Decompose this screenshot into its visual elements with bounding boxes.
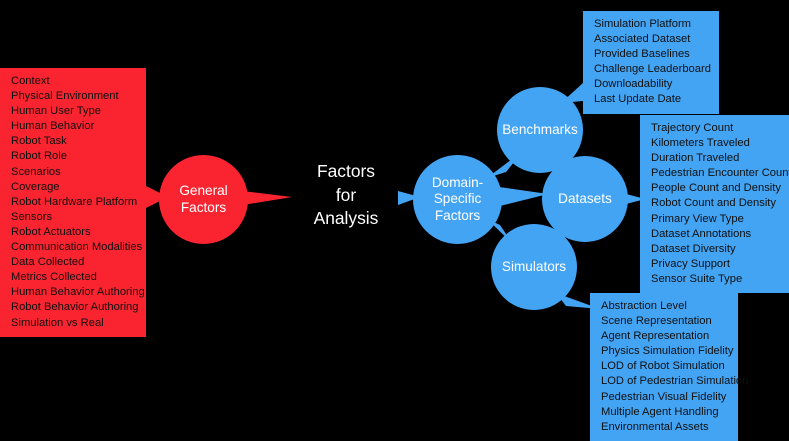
benchmarks-item-list: Simulation Platform Associated Dataset P… <box>583 11 719 114</box>
list-item: Challenge Leaderboard <box>594 62 710 77</box>
list-item: Data Collected <box>11 255 137 270</box>
node-domain-specific-factors-label: Domain- Specific Factors <box>432 175 483 225</box>
mindmap-canvas: Context Physical Environment Human User … <box>0 0 789 439</box>
list-item: Robot Task <box>11 134 137 149</box>
list-item: Multiple Agent Handling <box>601 405 729 420</box>
list-item: Metrics Collected <box>11 270 137 285</box>
list-item: Robot Count and Density <box>651 196 781 211</box>
list-item: Simulation vs Real <box>11 316 137 331</box>
list-item: Simulation Platform <box>594 17 710 32</box>
list-item: LOD of Pedestrian Simulation <box>601 374 729 389</box>
node-simulators[interactable]: Simulators <box>491 224 577 310</box>
list-item: Human Behavior Authoring <box>11 285 137 300</box>
node-label-line: Factors <box>432 208 483 225</box>
datasets-item-list: Trajectory Count Kilometers Traveled Dur… <box>640 115 789 293</box>
node-label-line: Domain- <box>432 175 483 192</box>
list-item: Context <box>11 74 137 89</box>
list-item: Abstraction Level <box>601 299 729 314</box>
list-item: Communication Modalities <box>11 240 137 255</box>
root-title-line: Analysis <box>284 207 408 231</box>
node-general-factors[interactable]: General Factors <box>159 155 248 244</box>
list-item: Sensor Suite Type <box>651 272 781 287</box>
list-item: Dataset Annotations <box>651 227 781 242</box>
node-label-line: General <box>179 183 227 200</box>
list-item: Dataset Diversity <box>651 242 781 257</box>
list-item: Physics Simulation Fidelity <box>601 344 729 359</box>
list-item: Robot Behavior Authoring <box>11 300 137 315</box>
general-factors-item-list: Context Physical Environment Human User … <box>0 68 146 337</box>
list-item: Scene Representation <box>601 314 729 329</box>
list-item: Privacy Support <box>651 257 781 272</box>
list-item: Robot Hardware Platform <box>11 195 137 210</box>
list-item: Physical Environment <box>11 89 137 104</box>
simulators-item-list: Abstraction Level Scene Representation A… <box>590 293 738 441</box>
list-item: Sensors <box>11 210 137 225</box>
list-item: Associated Dataset <box>594 32 710 47</box>
list-item: Pedestrian Visual Fidelity <box>601 390 729 405</box>
list-item: Human User Type <box>11 104 137 119</box>
root-title-line: Factors <box>284 160 408 184</box>
list-item: Environmental Assets <box>601 420 729 435</box>
root-title: Factors for Analysis <box>284 160 408 231</box>
list-item: Human Behavior <box>11 119 137 134</box>
list-item: Robot Role <box>11 149 137 164</box>
node-label-line: Factors <box>179 200 227 217</box>
list-item: Robot Actuators <box>11 225 137 240</box>
list-item: Downloadability <box>594 77 710 92</box>
list-item: Coverage <box>11 180 137 195</box>
list-item: Last Update Date <box>594 92 710 107</box>
node-domain-specific-factors[interactable]: Domain- Specific Factors <box>413 155 502 244</box>
list-item: Duration Traveled <box>651 151 781 166</box>
node-label-line: Specific <box>432 191 483 208</box>
list-item: Primary View Type <box>651 212 781 227</box>
node-general-factors-label: General Factors <box>179 183 227 216</box>
list-item: Trajectory Count <box>651 121 781 136</box>
node-datasets-label: Datasets <box>558 191 612 208</box>
node-benchmarks-label: Benchmarks <box>502 122 578 139</box>
list-item: Agent Representation <box>601 329 729 344</box>
list-item: LOD of Robot Simulation <box>601 359 729 374</box>
list-item: People Count and Density <box>651 181 781 196</box>
list-item: Scenarios <box>11 165 137 180</box>
node-simulators-label: Simulators <box>502 259 566 276</box>
root-title-line: for <box>284 184 408 208</box>
list-item: Provided Baselines <box>594 47 710 62</box>
list-item: Pedestrian Encounter Count <box>651 166 781 181</box>
list-item: Kilometers Traveled <box>651 136 781 151</box>
